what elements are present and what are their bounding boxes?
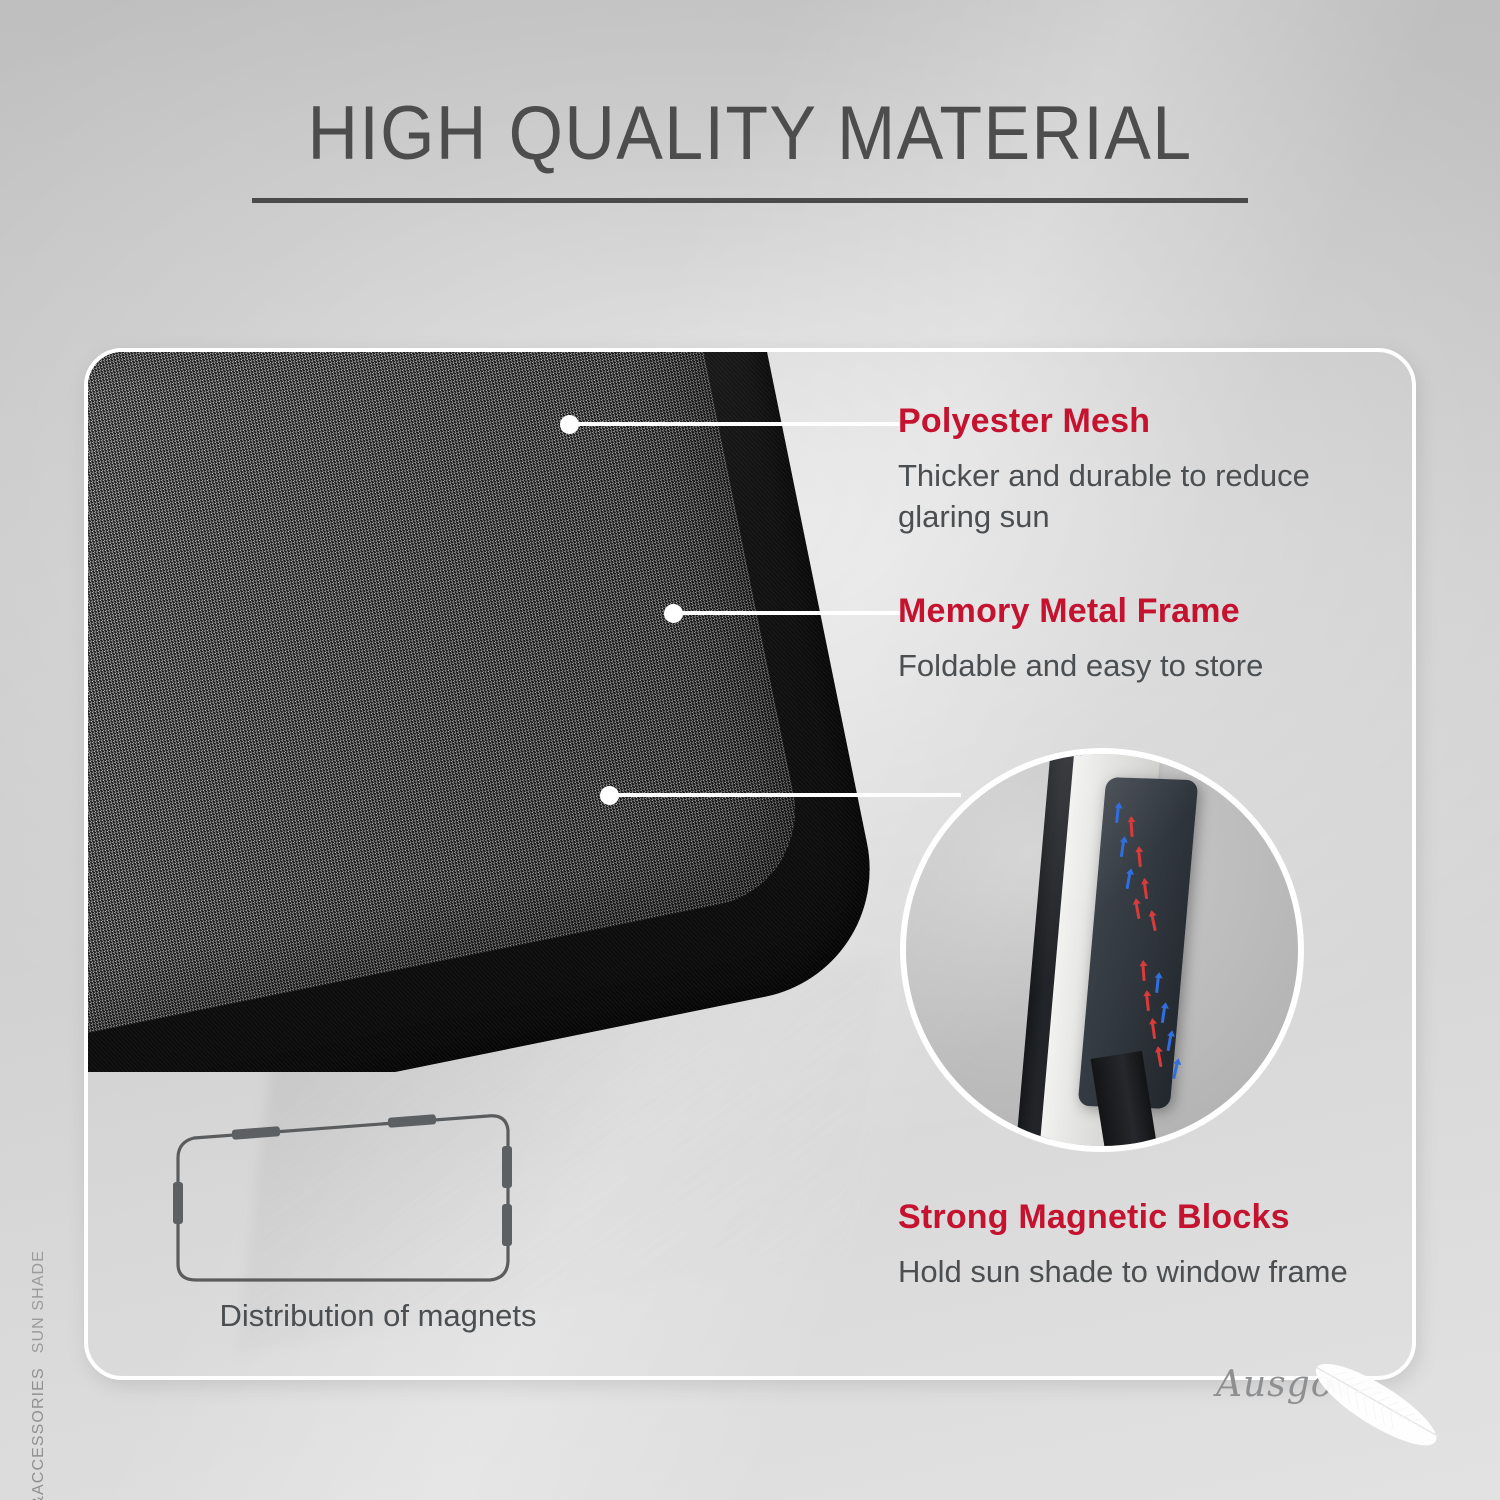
callout-body: Thicker and durable to reduce glaring su…	[898, 455, 1398, 537]
callout-heading: Strong Magnetic Blocks	[898, 1198, 1358, 1237]
callout-heading: Memory Metal Frame	[898, 592, 1398, 631]
callout-polyester-mesh: Polyester Mesh Thicker and durable to re…	[898, 402, 1398, 537]
leader-line	[569, 422, 899, 426]
magnet-diagram-caption: Distribution of magnets	[168, 1298, 588, 1334]
magnet-block	[388, 1114, 437, 1128]
shade-outline-path	[178, 1116, 508, 1280]
magnet-block	[173, 1182, 183, 1224]
leader-line	[673, 611, 901, 615]
magnet-block	[232, 1126, 281, 1140]
callout-memory-metal-frame: Memory Metal Frame Foldable and easy to …	[898, 592, 1398, 686]
brand-signature: Ausgo	[1210, 1346, 1470, 1476]
sun-shade-product-photo: Ausgo	[88, 352, 988, 1072]
side-caption-product: SUN SHADE	[30, 1250, 48, 1353]
magnet-detail-inset	[900, 748, 1304, 1152]
magnet-block	[502, 1146, 512, 1188]
callout-body: Hold sun shade to window frame	[898, 1251, 1358, 1292]
callout-strong-magnetic-blocks: Strong Magnetic Blocks Hold sun shade to…	[898, 1198, 1358, 1292]
magnet-distribution-diagram	[170, 1108, 530, 1298]
callout-heading: Polyester Mesh	[898, 402, 1398, 441]
side-caption: AUSGO 4WD&ACCESSORIES SUN SHADE	[30, 1250, 48, 1500]
magnet-block	[502, 1204, 512, 1246]
page-title: HIGH QUALITY MATERIAL	[60, 96, 1440, 172]
title-underline-rule	[252, 198, 1248, 203]
page-title-block: HIGH QUALITY MATERIAL	[0, 96, 1500, 203]
leader-line	[609, 793, 961, 797]
infographic-page: HIGH QUALITY MATERIAL AUSGO 4WD&ACCESSOR…	[0, 0, 1500, 1500]
magnet-diagram-svg	[170, 1108, 530, 1298]
feather-icon	[1274, 1348, 1474, 1468]
side-caption-brand: AUSGO 4WD&ACCESSORIES	[30, 1367, 48, 1500]
callout-body: Foldable and easy to store	[898, 645, 1398, 686]
